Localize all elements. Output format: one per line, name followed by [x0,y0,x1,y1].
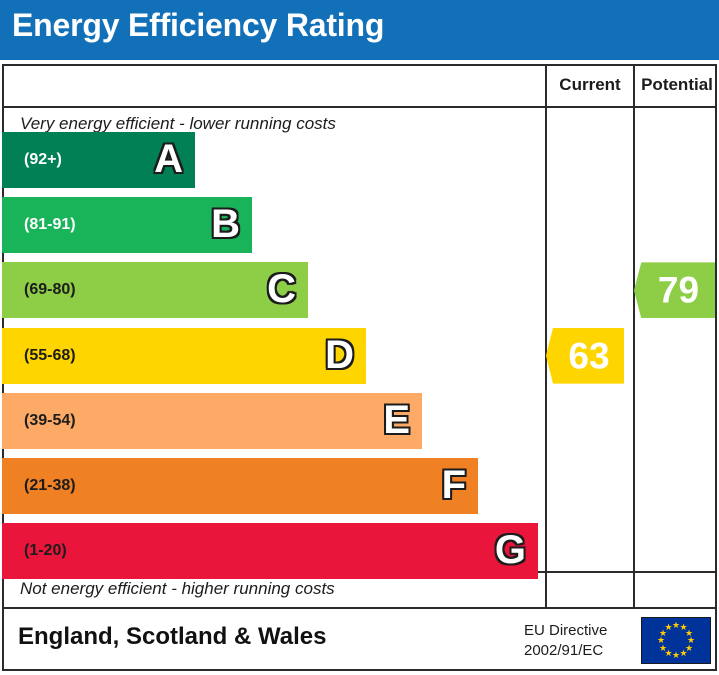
band-f: (21-38)F [2,458,478,514]
current-column-divider [545,66,547,607]
band-letter-g: G [495,530,526,570]
potential-column-divider [633,66,635,607]
band-range-c: (69-80) [24,281,76,299]
potential-rating-value: 79 [634,272,715,309]
footer-bar: England, Scotland & Wales EU Directive 2… [2,609,717,671]
band-letter-e: E [383,400,410,440]
band-e: (39-54)E [2,393,422,449]
column-header-current: Current [547,75,633,95]
band-g: (1-20)G [2,523,538,579]
footer-region-label: England, Scotland & Wales [18,623,326,651]
directive-line-1: EU Directive [524,621,607,641]
energy-efficiency-certificate: Energy Efficiency Rating Current Potenti… [0,0,719,675]
band-letter-c: C [267,270,296,310]
current-rating-marker: 63 [546,328,624,384]
band-d: (55-68)D [2,328,366,384]
band-letter-a: A [154,139,183,179]
eu-star-icon: ★ [664,623,673,632]
potential-rating-marker: 79 [634,262,715,318]
band-range-a: (92+) [24,151,62,169]
current-rating-value: 63 [546,337,624,374]
band-range-g: (1-20) [24,542,67,560]
band-range-d: (55-68) [24,347,76,365]
page-title: Energy Efficiency Rating [12,7,384,44]
caption-very-efficient: Very energy efficient - lower running co… [20,114,336,134]
band-letter-b: B [211,204,240,244]
band-a: (92+)A [2,132,195,188]
band-range-f: (21-38) [24,477,76,495]
column-header-potential: Potential [635,75,719,95]
title-bar: Energy Efficiency Rating [0,0,719,60]
rating-bands: (92+)A(81-91)B(69-80)C(55-68)D(39-54)E(2… [2,132,539,572]
directive-line-2: 2002/91/EC [524,641,607,661]
band-letter-f: F [442,465,466,505]
band-range-e: (39-54) [24,412,76,430]
band-range-b: (81-91) [24,216,76,234]
footer-directive: EU Directive 2002/91/EC [524,621,607,662]
band-letter-d: D [325,335,354,375]
eu-flag-icon: ★★★★★★★★★★★★ [641,617,711,664]
band-b: (81-91)B [2,197,252,253]
band-c: (69-80)C [2,262,308,318]
header-separator [4,106,715,108]
caption-not-efficient: Not energy efficient - higher running co… [20,579,335,599]
